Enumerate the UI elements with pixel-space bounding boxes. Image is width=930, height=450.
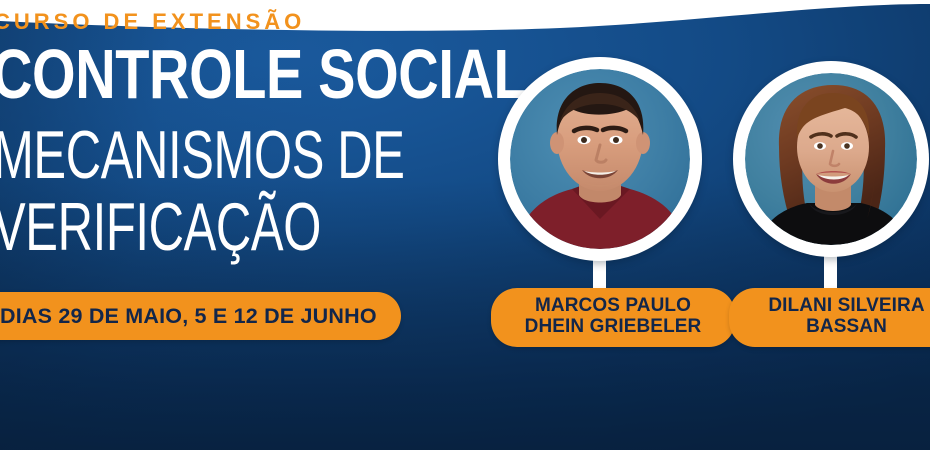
course-promo-banner: CURSO DE EXTENSÃO CONTROLE SOCIAL MECANI… xyxy=(0,0,930,450)
speaker-name-line-1: DILANI SILVEIRA xyxy=(768,295,924,316)
portrait-woman-icon xyxy=(745,73,917,245)
speaker-name-badge-2: DILANI SILVEIRA BASSAN xyxy=(729,288,930,347)
avatar xyxy=(745,73,917,245)
date-badge: DIAS 29 DE MAIO, 5 E 12 DE JUNHO xyxy=(0,292,401,340)
speaker-name-line-1: MARCOS PAULO xyxy=(535,295,691,316)
avatar xyxy=(510,69,690,249)
page-title-line-1: CONTROLE SOCIAL xyxy=(0,43,527,106)
page-title-line-3: VERIFICAÇÃO xyxy=(0,196,321,259)
speaker-name-line-2: DHEIN GRIEBELER xyxy=(525,316,702,337)
date-badge-label: DIAS 29 DE MAIO, 5 E 12 DE JUNHO xyxy=(0,304,377,329)
eyebrow-label: CURSO DE EXTENSÃO xyxy=(0,11,305,33)
page-title-line-2: MECANISMOS DE xyxy=(0,124,405,187)
portrait-man-icon xyxy=(510,69,690,249)
speaker-name-line-2: BASSAN xyxy=(806,316,887,337)
headline-column: CURSO DE EXTENSÃO CONTROLE SOCIAL MECANI… xyxy=(0,0,500,450)
speaker-name-badge-1: MARCOS PAULO DHEIN GRIEBELER xyxy=(491,288,735,347)
